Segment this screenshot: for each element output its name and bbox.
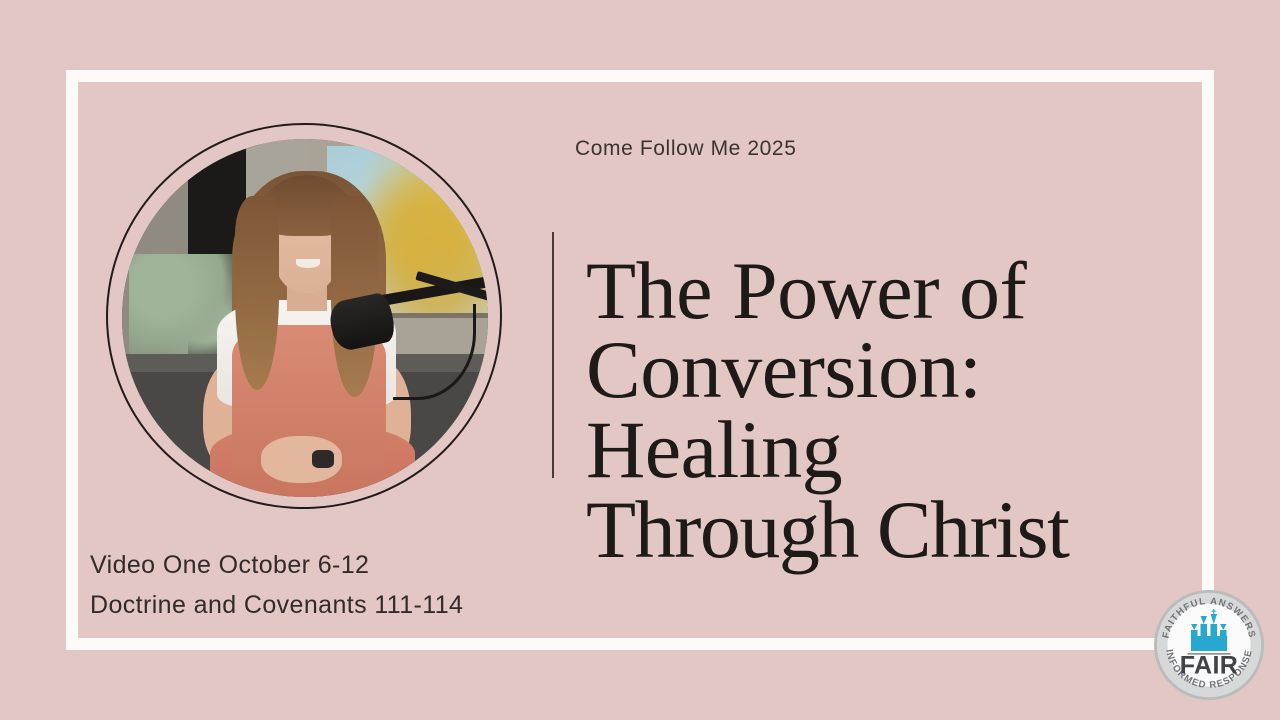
fair-logo-svg: FAITHFUL ANSWERS INFORMED RESPONSE FA	[1152, 588, 1266, 702]
fair-logo-wordmark: FAIR	[1180, 652, 1239, 680]
title-line-1: The Power of	[586, 251, 1206, 331]
photo-person-smile	[296, 259, 320, 268]
title-line-3: Healing	[586, 410, 1206, 490]
title-line-4: Through Christ	[586, 490, 1206, 570]
portrait-photo	[122, 139, 488, 497]
portrait	[106, 123, 506, 513]
caption-line-scripture: Doctrine and Covenants 111-114	[90, 586, 463, 626]
series-label: Come Follow Me 2025	[575, 137, 797, 161]
page-title: The Power of Conversion: Healing Through…	[586, 251, 1206, 569]
caption-line-video: Video One October 6-12	[90, 546, 463, 586]
fair-logo: FAITHFUL ANSWERS INFORMED RESPONSE FA	[1152, 588, 1266, 702]
photo-person-hair-left	[235, 196, 279, 389]
slide-canvas: Come Follow Me 2025 The Power of Convers…	[0, 0, 1280, 720]
episode-details: Video One October 6-12 Doctrine and Cove…	[90, 546, 463, 625]
title-accent-rule	[552, 232, 554, 478]
photo-person-watch	[312, 450, 334, 468]
title-line-2: Conversion:	[586, 330, 1206, 410]
